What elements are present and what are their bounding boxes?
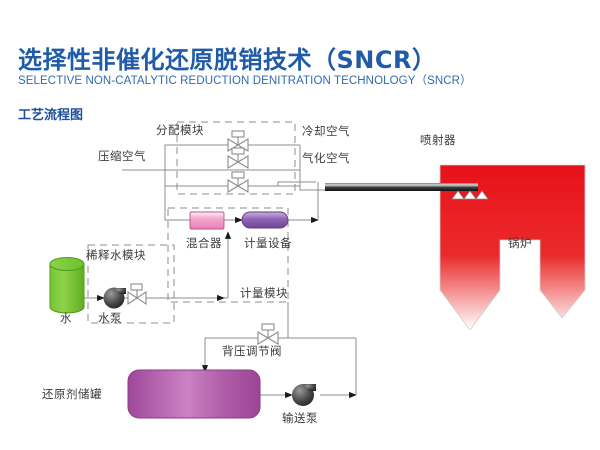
label-compressed-air: 压缩空气 [98,148,146,164]
label-metering-equipment: 计量设备 [244,235,292,251]
air-to-mixer-line [165,186,190,220]
label-reductant-storage-tank: 还原剂储罐 [42,386,102,402]
slide-root: 选择性非催化还原脱销技术（SNCR） SELECTIVE NON-CATALYT… [0,0,600,450]
label-water-pump: 水泵 [98,310,122,326]
valve-group-distribution [228,131,248,192]
valve-back-pressure [258,324,278,344]
label-distribution-module: 分配模块 [156,122,204,138]
label-mixer: 混合器 [186,235,222,251]
reductant-storage-tank [128,370,260,418]
water-pump [104,288,127,309]
valve-atomizing-air [228,148,248,168]
label-gasification-air: 气化空气 [302,150,350,166]
valve-dilution-water [128,284,146,304]
gas-air-to-lance [278,182,316,186]
metering-equipment-vessel [242,212,288,228]
mixer-vessel [190,212,224,229]
process-flow-diagram [0,0,600,450]
water-tank [50,258,84,314]
label-cooling-air: 冷却空气 [302,123,350,139]
label-delivery-pump: 输送泵 [282,410,318,426]
label-injector: 喷射器 [420,132,456,148]
label-boiler: 锅炉 [508,235,532,251]
valve-gasification-air [228,172,248,192]
label-back-pressure-valve: 背压调节阀 [222,343,282,359]
delivery-pump [292,384,316,406]
label-water: 水 [60,310,72,326]
label-metering-module: 计量模块 [240,285,288,301]
label-dilution-water-module: 稀释水模块 [86,247,146,263]
